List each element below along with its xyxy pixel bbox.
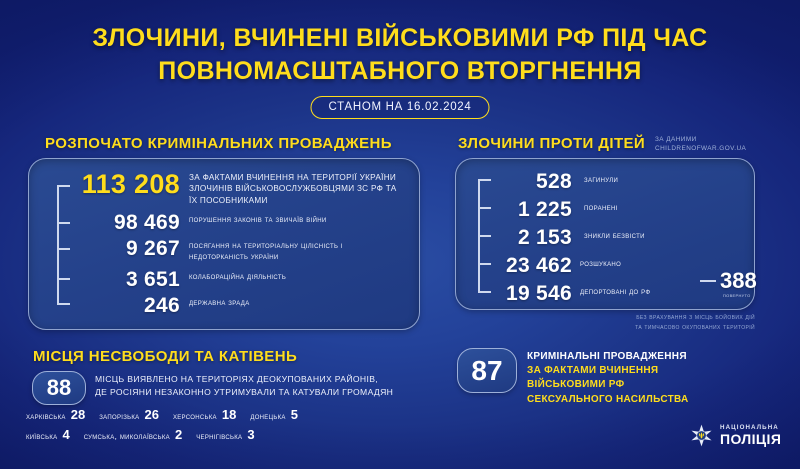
stat-value: 9 267 (75, 238, 180, 259)
regions-row: Київська 4 Сумська, Миколаївська 2 Черні… (26, 428, 446, 441)
criminal-proceedings-card: 113 208 ЗА ФАКТАМИ ВЧИНЕННЯ НА ТЕРИТОРІЇ… (28, 158, 420, 330)
stat-label: Порушення законів та звичаїв війни (189, 214, 404, 225)
stat-row: 19 546 Депортовані до РФ (494, 283, 744, 304)
region-value: 3 (247, 428, 254, 441)
stat-value: 528 (494, 171, 572, 192)
police-star-badge-icon (690, 424, 713, 447)
region-item: Чернігівська 3 (196, 428, 254, 441)
region-item: Київська 4 (26, 428, 70, 441)
region-value: 2 (175, 428, 182, 441)
national-police-logo: НАЦІОНАЛЬНА ПОЛІЦІЯ (690, 424, 781, 447)
region-name: Сумська, Миколаївська (84, 431, 170, 441)
region-value: 26 (144, 408, 158, 421)
section-heading-criminal-proceedings: РОЗПОЧАТО КРИМІНАЛЬНИХ ПРОВАДЖЕНЬ (45, 135, 392, 152)
bracket-tick (57, 248, 70, 250)
region-value: 28 (71, 408, 85, 421)
sexual-violence-line3: ВІЙСЬКОВИМИ РФ (527, 378, 792, 392)
detention-description-line2: ДЕ РОСІЯНИ НЕЗАКОННО УТРИМУВАЛИ ТА КАТУВ… (95, 386, 445, 399)
region-name: Харківська (26, 411, 66, 421)
page-title: ЗЛОЧИНИ, ВЧИНЕНІ ВІЙСЬКОВИМИ РФ ПІД ЧАС … (0, 22, 800, 88)
region-name: Запорізька (99, 411, 139, 421)
infographic-root: ЗЛОЧИНИ, ВЧИНЕНІ ВІЙСЬКОВИМИ РФ ПІД ЧАС … (0, 0, 800, 469)
regions-row: Харківська 28 Запорізька 26 Херсонська 1… (26, 408, 446, 421)
stat-row: 113 208 ЗА ФАКТАМИ ВЧИНЕННЯ НА ТЕРИТОРІЇ… (75, 171, 405, 206)
footnote-line1: Без врахування з місць бойових дій (500, 313, 755, 323)
stat-label: Поранені (584, 202, 744, 213)
bracket-tick (57, 303, 70, 305)
stat-row: 3 651 Колабораційна діяльність (75, 269, 405, 290)
stat-value: 19 546 (494, 283, 572, 304)
detention-count-badge: 88 (32, 371, 86, 405)
stat-label: Колабораційна діяльність (189, 271, 404, 282)
source-line2: CHILDRENOFWAR.GOV.UA (655, 145, 746, 154)
stat-value: 113 208 (75, 171, 180, 198)
returned-label: Повернуто (723, 292, 751, 299)
stat-value: 98 469 (75, 212, 180, 233)
sexual-violence-line1: КРИМІНАЛЬНІ ПРОВАДЖЕННЯ (527, 350, 792, 364)
stat-value: 246 (75, 295, 180, 316)
stat-label: Посягання на територіальну цілісність і … (189, 240, 404, 263)
police-logo-text: НАЦІОНАЛЬНА ПОЛІЦІЯ (720, 425, 781, 447)
region-item: Сумська, Миколаївська 2 (84, 428, 183, 441)
bracket-tick (478, 179, 491, 181)
region-item: Харківська 28 (26, 408, 85, 421)
stat-label: Депортовані до РФ (580, 286, 690, 297)
region-item: Запорізька 26 (99, 408, 159, 421)
region-value: 5 (291, 408, 298, 421)
stat-label: Загинули (584, 174, 744, 185)
page-title-line2: ПОВНОМАСШТАБНОГО ВТОРГНЕННЯ (0, 55, 800, 88)
bracket-tick (478, 235, 491, 237)
region-value: 4 (62, 428, 69, 441)
source-line1: ЗА ДАНИМИ (655, 136, 746, 145)
police-logo-line2: ПОЛІЦІЯ (720, 432, 781, 447)
stat-value: 3 651 (75, 269, 180, 290)
detention-description: МІСЦЬ ВИЯВЛЕНО НА ТЕРИТОРІЯХ ДЕОКУПОВАНИ… (95, 373, 445, 399)
sexual-violence-count-badge: 87 (457, 348, 517, 393)
crimes-against-children-card: 528 Загинули 1 225 Поранені 2 153 Зникли… (455, 158, 755, 310)
stat-row: 246 Державна зрада (75, 295, 405, 316)
bracket-spine (57, 185, 59, 303)
region-item: Донецька 5 (250, 408, 298, 421)
region-name: Чернігівська (196, 431, 242, 441)
bracket-tick (57, 222, 70, 224)
stat-value: 2 153 (494, 227, 572, 248)
regions-breakdown: Харківська 28 Запорізька 26 Херсонська 1… (26, 408, 446, 448)
stat-label: Зникли безвісти (584, 230, 744, 241)
section-heading-crimes-against-children: ЗЛОЧИНИ ПРОТИ ДІТЕЙ (458, 135, 645, 152)
stat-row: 98 469 Порушення законів та звичаїв війн… (75, 212, 405, 233)
section-heading-detention-places: МІСЦЯ НЕСВОБОДИ ТА КАТІВЕНЬ (33, 348, 297, 365)
stat-label: Державна зрада (189, 297, 404, 308)
stat-row: 23 462 Розшукано (494, 255, 744, 276)
stat-label: Розшукано (580, 258, 740, 269)
region-name: Херсонська (173, 411, 217, 421)
stat-row: 9 267 Посягання на територіальну цілісні… (75, 238, 405, 263)
sexual-violence-line4: СЕКСУАЛЬНОГО НАСИЛЬСТВА (527, 393, 792, 407)
footnote-line2: та тимчасово окупованих територій (500, 323, 755, 333)
region-item: Херсонська 18 (173, 408, 236, 421)
page-title-line1: ЗЛОЧИНИ, ВЧИНЕНІ ВІЙСЬКОВИМИ РФ ПІД ЧАС (0, 22, 800, 55)
region-value: 18 (222, 408, 236, 421)
stat-value: 23 462 (494, 255, 572, 276)
status-date-badge: СТАНОМ НА 16.02.2024 (311, 96, 490, 119)
returned-value: 388 (720, 270, 757, 292)
returned-connector-line (700, 280, 716, 282)
bracket-tick (478, 207, 491, 209)
stat-row: 2 153 Зникли безвісти (494, 227, 744, 248)
stat-row: 1 225 Поранені (494, 199, 744, 220)
bracket-tick (57, 278, 70, 280)
children-footnote: Без врахування з місць бойових дій та ти… (500, 313, 755, 333)
region-name: Донецька (250, 411, 285, 421)
bracket-tick (478, 291, 491, 293)
stat-label: ЗА ФАКТАМИ ВЧИНЕННЯ НА ТЕРИТОРІЇ УКРАЇНИ… (189, 172, 399, 206)
stat-value: 1 225 (494, 199, 572, 220)
region-name: Київська (26, 431, 57, 441)
bracket-tick (57, 185, 70, 187)
bracket-tick (478, 263, 491, 265)
sexual-violence-line2: ЗА ФАКТАМИ ВЧИНЕННЯ (527, 364, 792, 378)
detention-description-line1: МІСЦЬ ВИЯВЛЕНО НА ТЕРИТОРІЯХ ДЕОКУПОВАНИ… (95, 373, 445, 386)
source-attribution: ЗА ДАНИМИ CHILDRENOFWAR.GOV.UA (655, 136, 746, 153)
stat-row: 528 Загинули (494, 171, 744, 192)
sexual-violence-description: КРИМІНАЛЬНІ ПРОВАДЖЕННЯ ЗА ФАКТАМИ ВЧИНЕ… (527, 350, 792, 407)
